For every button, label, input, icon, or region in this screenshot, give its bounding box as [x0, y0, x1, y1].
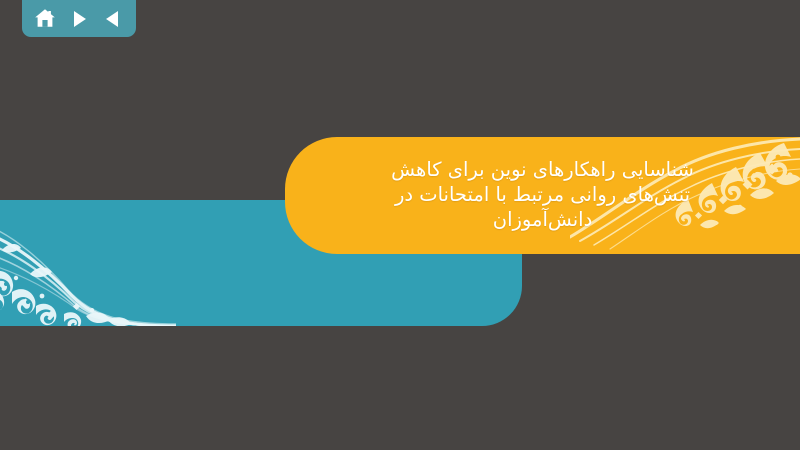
home-button[interactable]: [32, 6, 58, 32]
title-banner: شناسایی راهکارهای نوین برای کاهش تنش‌های…: [285, 137, 800, 254]
back-arrow-icon: [104, 9, 122, 29]
title-line-3: دانش‌آموزان: [493, 207, 592, 232]
back-button[interactable]: [100, 6, 126, 32]
title-line-2: تنش‌های روانی مرتبط با امتحانات در: [395, 182, 690, 207]
navigation-bar: [22, 0, 136, 37]
title-line-1: شناسایی راهکارهای نوین برای کاهش: [391, 157, 694, 182]
slide-title: شناسایی راهکارهای نوین برای کاهش تنش‌های…: [285, 137, 800, 254]
home-icon: [34, 8, 56, 29]
arabesque-ornament-bottom-left-icon: [0, 200, 176, 326]
slide-canvas: شناسایی راهکارهای نوین برای کاهش تنش‌های…: [0, 0, 800, 450]
forward-arrow-icon: [70, 9, 88, 29]
forward-button[interactable]: [66, 6, 92, 32]
